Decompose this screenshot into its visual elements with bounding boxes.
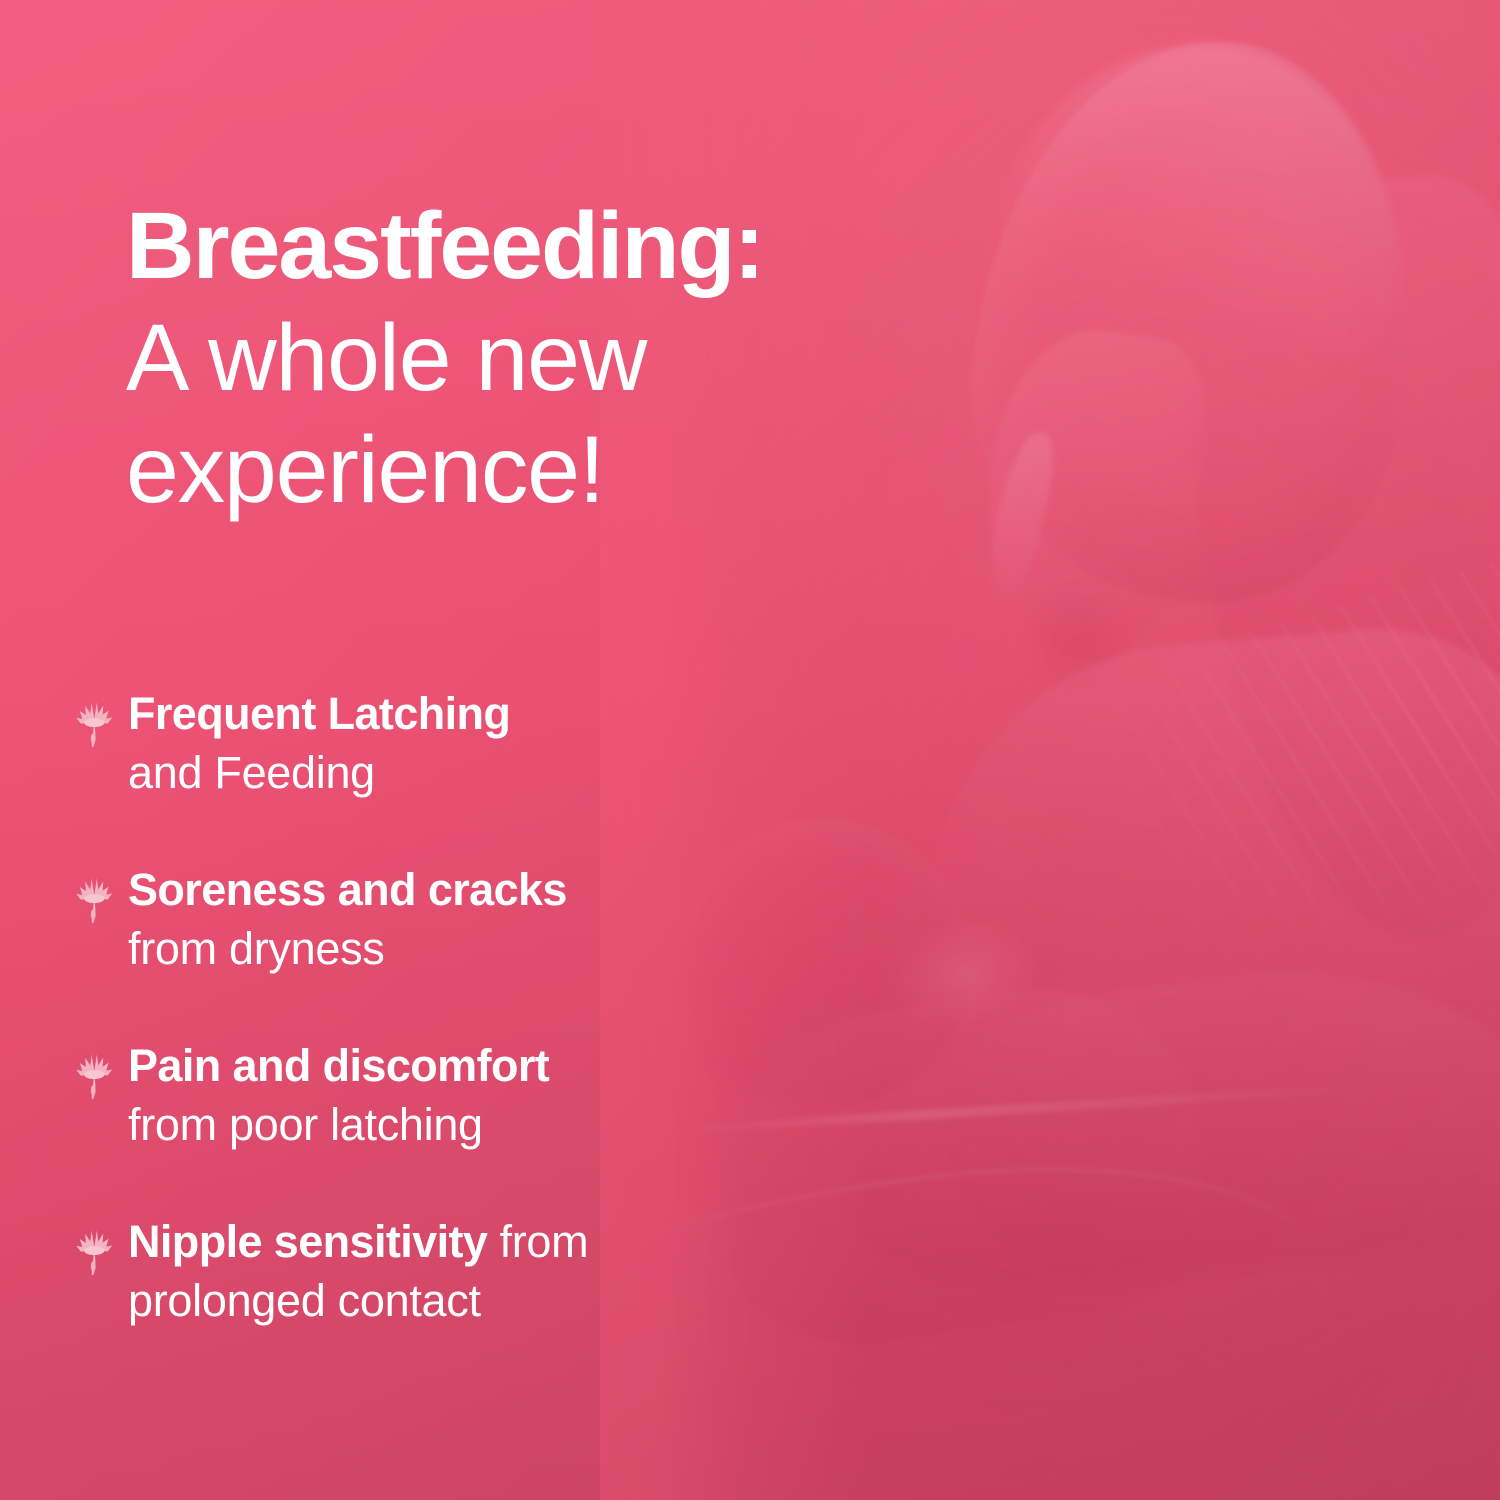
list-item-text: Nipple sensitivity from prolonged contac…: [128, 1211, 588, 1330]
list-item: Nipple sensitivity from prolonged contac…: [74, 1211, 954, 1330]
page-title: Breastfeeding: A whole new experience!: [126, 190, 986, 526]
dandelion-flower-icon: [74, 1217, 114, 1279]
list-item-emphasis: Soreness and cracks: [128, 864, 567, 915]
list-item-subtext: from poor latching: [128, 1096, 549, 1155]
list-item-emphasis: Pain and discomfort: [128, 1040, 549, 1091]
headline-line-1: Breastfeeding:: [126, 190, 986, 302]
list-item-subtext: from dryness: [128, 920, 567, 979]
poster-canvas: Breastfeeding: A whole new experience!: [0, 0, 1500, 1500]
list-item-emphasis: Nipple sensitivity: [128, 1216, 487, 1267]
list-item: Soreness and cracks from dryness: [74, 859, 954, 978]
list-item: Frequent Latching and Feeding: [74, 683, 954, 802]
dandelion-flower-icon: [74, 865, 114, 927]
list-item-subtext: prolonged contact: [128, 1272, 588, 1331]
list-item-text: Pain and discomfort from poor latching: [128, 1035, 549, 1154]
list-item-subtext: and Feeding: [128, 744, 510, 803]
headline-line-2: A whole new: [126, 302, 986, 414]
headline-line-3: experience!: [126, 414, 986, 526]
dandelion-flower-icon: [74, 1041, 114, 1103]
list-item-text: Soreness and cracks from dryness: [128, 859, 567, 978]
list-item-inline-rest: from: [487, 1216, 588, 1267]
list-item-emphasis: Frequent Latching: [128, 688, 510, 739]
list-item-text: Frequent Latching and Feeding: [128, 683, 510, 802]
list-item: Pain and discomfort from poor latching: [74, 1035, 954, 1154]
content-layer: Breastfeeding: A whole new experience!: [0, 0, 1500, 1500]
dandelion-flower-icon: [74, 689, 114, 751]
symptom-list: Frequent Latching and Feeding: [74, 683, 954, 1330]
